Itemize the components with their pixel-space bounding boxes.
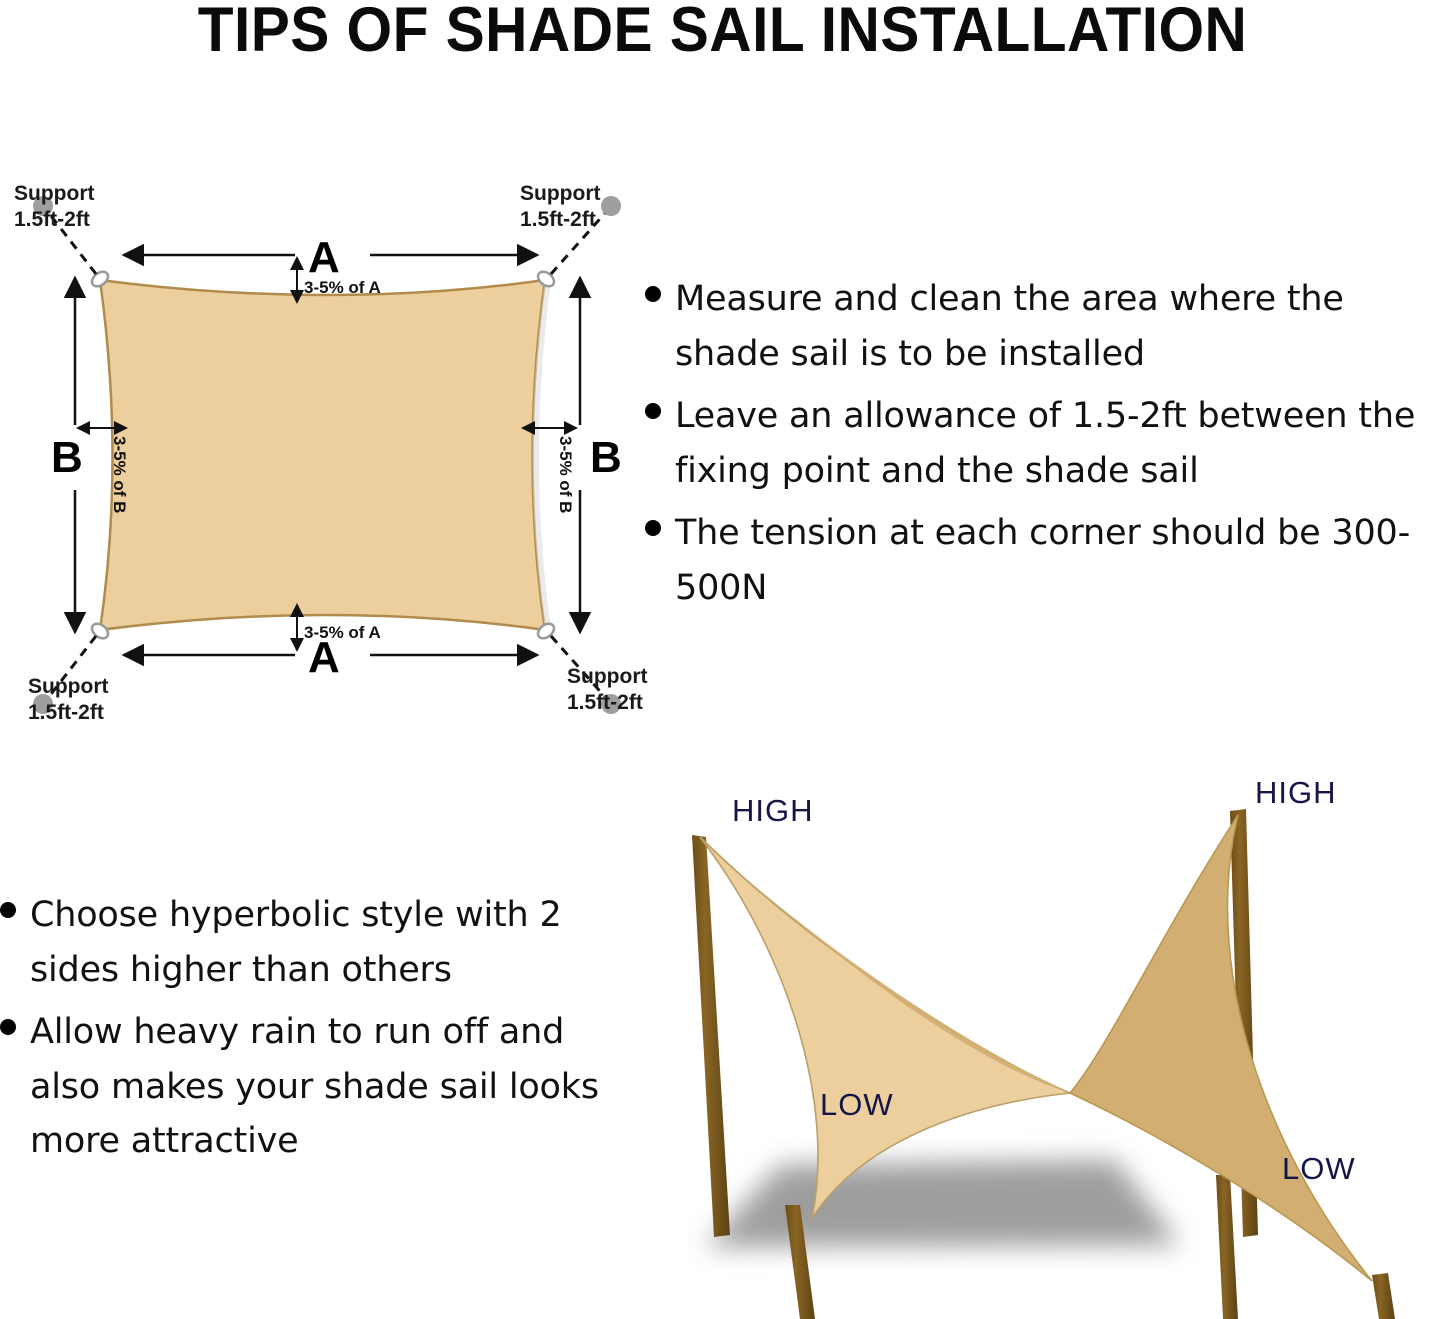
dimension-label-a-top: A bbox=[308, 233, 340, 282]
bullet-icon bbox=[645, 520, 661, 536]
support-label-bottom-left-line2: 1.5ft-2ft bbox=[28, 701, 104, 724]
post-low-right bbox=[1372, 1273, 1395, 1319]
support-dot-top-right bbox=[601, 196, 621, 216]
dimension-label-b-left: B bbox=[51, 433, 83, 482]
support-label-top-left-line2: 1.5ft-2ft bbox=[14, 208, 90, 231]
support-label-bottom-left-line1: Support bbox=[28, 675, 108, 698]
sail-shape bbox=[100, 280, 545, 630]
support-label-top-right-line2: 1.5ft-2ft bbox=[520, 208, 596, 231]
sag-label-b-left: 3-5% of B bbox=[110, 436, 129, 513]
dimension-label-b-right: B bbox=[590, 433, 622, 482]
tip-text: The tension at each corner should be 300… bbox=[675, 506, 1445, 615]
tip-text: Choose hyperbolic style with 2 sides hig… bbox=[30, 888, 620, 997]
page-title: TIPS OF SHADE SAIL INSTALLATION bbox=[51, 0, 1395, 66]
support-label-bottom-right-line2: 1.5ft-2ft bbox=[567, 691, 643, 714]
list-item: Allow heavy rain to run off and also mak… bbox=[0, 1005, 620, 1169]
support-label-top-left-line1: Support bbox=[14, 182, 94, 205]
ground-shadow bbox=[705, 1160, 1180, 1247]
post-high-left bbox=[692, 835, 730, 1237]
list-item: The tension at each corner should be 300… bbox=[645, 506, 1445, 615]
post-low-mid bbox=[1216, 1175, 1238, 1319]
support-label-bottom-right-line1: Support bbox=[567, 665, 647, 688]
label-high-left: HIGH bbox=[732, 793, 814, 828]
support-label-top-right-line1: Support bbox=[520, 182, 600, 205]
label-low-left: LOW bbox=[820, 1087, 894, 1122]
rectangular-sail-diagram: Support 1.5ft-2ft Support 1.5ft-2ft Supp… bbox=[0, 160, 660, 730]
tip-text: Measure and clean the area where the sha… bbox=[675, 272, 1445, 381]
sag-label-a-top: 3-5% of A bbox=[304, 278, 381, 297]
tips-list-top: Measure and clean the area where the sha… bbox=[645, 272, 1445, 624]
tip-text: Leave an allowance of 1.5-2ft between th… bbox=[675, 389, 1445, 498]
sag-label-a-bottom: 3-5% of A bbox=[304, 623, 381, 642]
label-low-right: LOW bbox=[1282, 1151, 1356, 1186]
bullet-icon bbox=[645, 286, 661, 302]
list-item: Leave an allowance of 1.5-2ft between th… bbox=[645, 389, 1445, 498]
bullet-icon bbox=[0, 902, 16, 918]
hyperbolic-sail-diagram: HIGH HIGH LOW LOW bbox=[660, 775, 1445, 1319]
bullet-icon bbox=[0, 1019, 16, 1035]
sail-panel-left bbox=[700, 837, 1070, 1218]
list-item: Choose hyperbolic style with 2 sides hig… bbox=[0, 888, 620, 997]
tips-list-bottom: Choose hyperbolic style with 2 sides hig… bbox=[0, 888, 620, 1177]
label-high-right: HIGH bbox=[1255, 775, 1337, 810]
sag-label-b-right: 3-5% of B bbox=[556, 436, 575, 513]
bullet-icon bbox=[645, 403, 661, 419]
list-item: Measure and clean the area where the sha… bbox=[645, 272, 1445, 381]
tip-text: Allow heavy rain to run off and also mak… bbox=[30, 1005, 620, 1169]
